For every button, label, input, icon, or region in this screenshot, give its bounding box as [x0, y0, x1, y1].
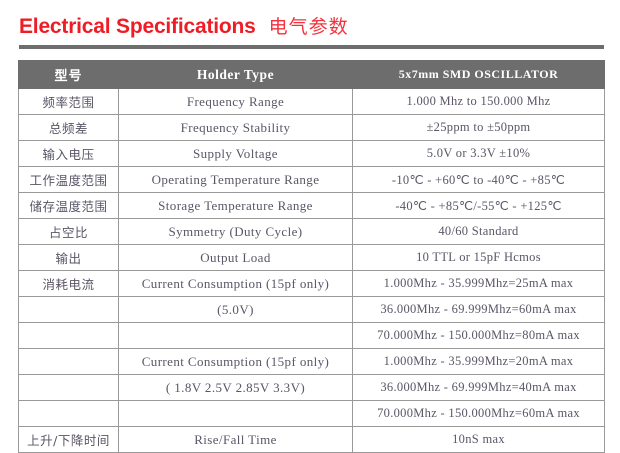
cell-param-cn: 频率范围 [19, 89, 119, 115]
table-row: 输入电压 Supply Voltage 5.0V or 3.3V ±10% [19, 141, 605, 167]
table-row: 总频差 Frequency Stability ±25ppm to ±50ppm [19, 115, 605, 141]
cell-spec-value: 1.000Mhz - 35.999Mhz=20mA max [353, 349, 605, 375]
cell-spec-value: 70.000Mhz - 150.000Mhz=80mA max [353, 323, 605, 349]
cell-param-en [119, 401, 353, 427]
cell-param-cn [19, 401, 119, 427]
cell-param-en: (5.0V) [119, 297, 353, 323]
cell-param-en: Frequency Stability [119, 115, 353, 141]
cell-spec-value: 10nS max [353, 427, 605, 453]
cell-param-en: Output Load [119, 245, 353, 271]
page-title: Electrical Specifications 电气参数 [19, 12, 604, 40]
cell-spec-value: 1.000Mhz - 35.999Mhz=25mA max [353, 271, 605, 297]
cell-param-cn [19, 297, 119, 323]
cell-param-cn: 上升/下降时间 [19, 427, 119, 453]
cell-param-en: Rise/Fall Time [119, 427, 353, 453]
cell-param-en: ( 1.8V 2.5V 2.85V 3.3V) [119, 375, 353, 401]
table-row: 储存温度范围 Storage Temperature Range -40℃ - … [19, 193, 605, 219]
cell-param-en: Current Consumption (15pf only) [119, 349, 353, 375]
cell-spec-value: 70.000Mhz - 150.000Mhz=60mA max [353, 401, 605, 427]
cell-spec-value: -40℃ - +85℃/-55℃ - +125℃ [353, 193, 605, 219]
cell-param-cn: 消耗电流 [19, 271, 119, 297]
column-header-param-cn: 型号 [19, 61, 119, 89]
cell-spec-value: ±25ppm to ±50ppm [353, 115, 605, 141]
page-title-english: Electrical Specifications [19, 15, 256, 39]
title-underline-rule [19, 45, 604, 49]
table-row: 消耗电流 Current Consumption (15pf only) 1.0… [19, 271, 605, 297]
table-row: 70.000Mhz - 150.000Mhz=60mA max [19, 401, 605, 427]
cell-param-cn: 工作温度范围 [19, 167, 119, 193]
cell-param-cn: 储存温度范围 [19, 193, 119, 219]
cell-spec-value: 10 TTL or 15pF Hcmos [353, 245, 605, 271]
column-header-holder-type: Holder Type [119, 61, 353, 89]
table-body: 频率范围 Frequency Range 1.000 Mhz to 150.00… [19, 89, 605, 453]
table-row: 占空比 Symmetry (Duty Cycle) 40/60 Standard [19, 219, 605, 245]
cell-param-cn: 输入电压 [19, 141, 119, 167]
cell-param-cn: 总频差 [19, 115, 119, 141]
table-row: 70.000Mhz - 150.000Mhz=80mA max [19, 323, 605, 349]
table-header-row: 型号 Holder Type 5x7mm SMD OSCILLATOR [19, 61, 605, 89]
table-row: Current Consumption (15pf only) 1.000Mhz… [19, 349, 605, 375]
cell-param-en [119, 323, 353, 349]
specification-page: Electrical Specifications 电气参数 型号 Holder… [0, 0, 620, 450]
cell-param-en: Storage Temperature Range [119, 193, 353, 219]
column-header-oscillator: 5x7mm SMD OSCILLATOR [353, 61, 605, 89]
cell-param-en: Symmetry (Duty Cycle) [119, 219, 353, 245]
table-row: (5.0V) 36.000Mhz - 69.999Mhz=60mA max [19, 297, 605, 323]
cell-param-cn: 输出 [19, 245, 119, 271]
cell-param-cn: 占空比 [19, 219, 119, 245]
cell-param-cn [19, 349, 119, 375]
table-row: ( 1.8V 2.5V 2.85V 3.3V) 36.000Mhz - 69.9… [19, 375, 605, 401]
table-row: 上升/下降时间 Rise/Fall Time 10nS max [19, 427, 605, 453]
table-row: 频率范围 Frequency Range 1.000 Mhz to 150.00… [19, 89, 605, 115]
cell-spec-value: -10℃ - +60℃ to -40℃ - +85℃ [353, 167, 605, 193]
electrical-specifications-table: 型号 Holder Type 5x7mm SMD OSCILLATOR 频率范围… [18, 60, 605, 453]
cell-spec-value: 40/60 Standard [353, 219, 605, 245]
cell-spec-value: 36.000Mhz - 69.999Mhz=60mA max [353, 297, 605, 323]
page-title-chinese: 电气参数 [269, 12, 349, 39]
cell-spec-value: 5.0V or 3.3V ±10% [353, 141, 605, 167]
cell-param-en: Supply Voltage [119, 141, 353, 167]
cell-param-en: Frequency Range [119, 89, 353, 115]
cell-spec-value: 1.000 Mhz to 150.000 Mhz [353, 89, 605, 115]
table-row: 工作温度范围 Operating Temperature Range -10℃ … [19, 167, 605, 193]
page-title-block: Electrical Specifications 电气参数 [19, 12, 604, 50]
table-row: 输出 Output Load 10 TTL or 15pF Hcmos [19, 245, 605, 271]
cell-param-en: Current Consumption (15pf only) [119, 271, 353, 297]
cell-spec-value: 36.000Mhz - 69.999Mhz=40mA max [353, 375, 605, 401]
cell-param-cn [19, 375, 119, 401]
cell-param-en: Operating Temperature Range [119, 167, 353, 193]
cell-param-cn [19, 323, 119, 349]
